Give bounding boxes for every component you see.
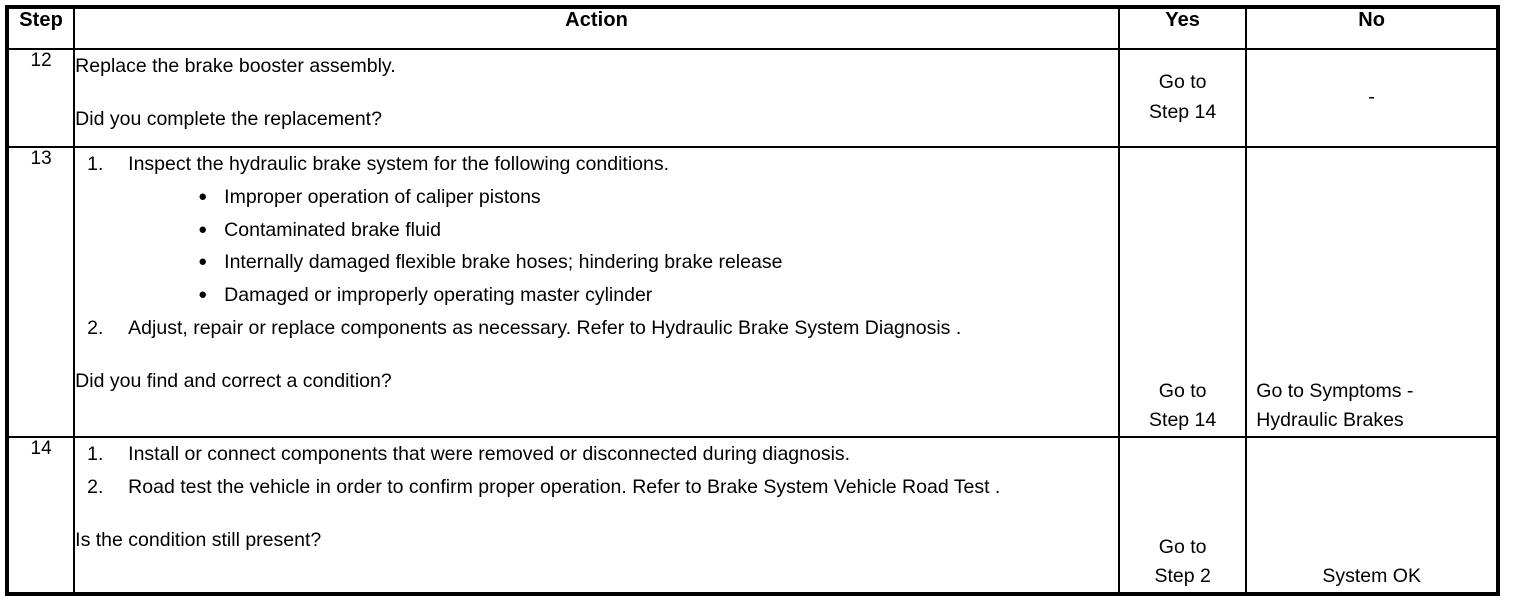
yes-cell: Go to Step 14 (1119, 49, 1246, 147)
list-item: 1. Inspect the hydraulic brake system fo… (75, 148, 1118, 312)
list-item: 1. Install or connect components that we… (75, 438, 1118, 471)
list-number: 1. (87, 438, 117, 471)
list-text: Inspect the hydraulic brake system for t… (128, 148, 1118, 181)
bullet-icon: ● (198, 279, 207, 312)
list-number: 2. (87, 312, 117, 345)
list-number: 2. (87, 471, 117, 504)
header-yes: Yes (1119, 7, 1246, 49)
step-number-cell: 13 (7, 147, 74, 437)
bullet-text: Internally damaged flexible brake hoses;… (224, 251, 782, 273)
blank-line (75, 504, 1118, 524)
yes-value: Go to Step 14 (1120, 68, 1245, 127)
list-text: Road test the vehicle in order to confir… (128, 471, 1118, 504)
diagnostic-procedure-table: Step Action Yes No 12 Replace the brake … (5, 5, 1500, 596)
action-question: Did you find and correct a condition? (75, 365, 1118, 398)
blank-line (75, 83, 1118, 103)
action-question: Did you complete the replacement? (75, 103, 1118, 136)
bullet-text: Improper operation of caliper pistons (224, 186, 541, 208)
yes-cell: Go to Step 2 (1119, 437, 1246, 594)
action-question: Is the condition still present? (75, 524, 1118, 557)
list-item: 2. Adjust, repair or replace components … (75, 312, 1118, 345)
yes-value: Go to Step 14 (1120, 377, 1245, 436)
action-numbered-list: 1. Install or connect components that we… (75, 438, 1118, 504)
no-value: Go to Symptoms - Hydraulic Brakes (1256, 377, 1496, 436)
no-cell: - (1246, 49, 1498, 147)
table-row: 14 1. Install or connect components that… (7, 437, 1498, 594)
list-number: 1. (87, 148, 117, 181)
no-value: - (1247, 83, 1496, 113)
no-value: System OK (1247, 562, 1496, 592)
action-cell: 1. Install or connect components that we… (74, 437, 1119, 594)
diagnostic-table-page: Step Action Yes No 12 Replace the brake … (0, 0, 1520, 604)
header-step: Step (7, 7, 74, 49)
action-numbered-list: 1. Inspect the hydraulic brake system fo… (75, 148, 1118, 345)
blank-line (75, 345, 1118, 365)
action-cell: 1. Inspect the hydraulic brake system fo… (74, 147, 1119, 437)
table-body: 12 Replace the brake booster assembly. D… (7, 49, 1498, 594)
header-row: Step Action Yes No (7, 7, 1498, 49)
list-text: Install or connect components that were … (128, 438, 1118, 471)
list-text: Adjust, repair or replace components as … (128, 312, 1118, 345)
no-cell: Go to Symptoms - Hydraulic Brakes (1246, 147, 1498, 437)
table-row: 13 1. Inspect the hydraulic brake system… (7, 147, 1498, 437)
list-item: ● Internally damaged flexible brake hose… (128, 246, 1118, 279)
list-item: ● Contaminated brake fluid (128, 214, 1118, 247)
table-row: 12 Replace the brake booster assembly. D… (7, 49, 1498, 147)
action-cell: Replace the brake booster assembly. Did … (74, 49, 1119, 147)
yes-value: Go to Step 2 (1120, 533, 1245, 592)
yes-cell: Go to Step 14 (1119, 147, 1246, 437)
no-cell: System OK (1246, 437, 1498, 594)
list-item: ● Damaged or improperly operating master… (128, 279, 1118, 312)
header-no: No (1246, 7, 1498, 49)
list-item: 2. Road test the vehicle in order to con… (75, 471, 1118, 504)
bullet-icon: ● (198, 246, 207, 279)
header-action: Action (74, 7, 1119, 49)
list-item: ● Improper operation of caliper pistons (128, 181, 1118, 214)
action-line: Replace the brake booster assembly. (75, 50, 1118, 83)
bullet-icon: ● (198, 181, 207, 214)
bullet-text: Damaged or improperly operating master c… (224, 284, 652, 306)
bullet-text: Contaminated brake fluid (224, 219, 441, 241)
condition-bullet-list: ● Improper operation of caliper pistons … (128, 181, 1118, 312)
bullet-icon: ● (198, 214, 207, 247)
step-number-cell: 12 (7, 49, 74, 147)
step-number-cell: 14 (7, 437, 74, 594)
table-header: Step Action Yes No (7, 7, 1498, 49)
